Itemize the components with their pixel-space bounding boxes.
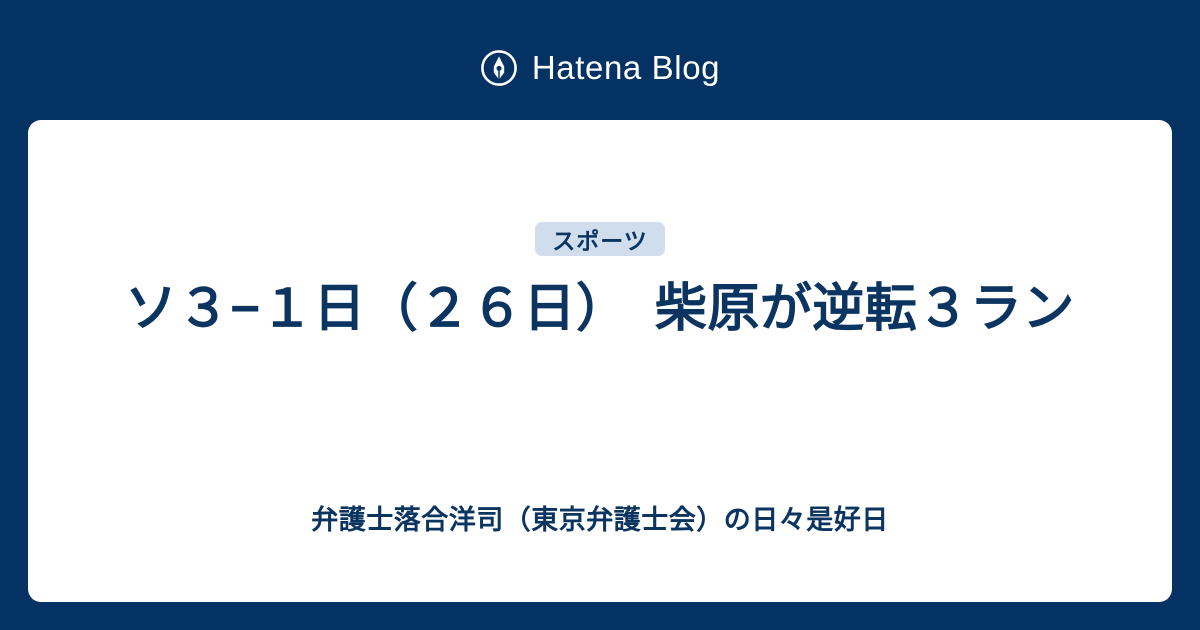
brand-name: Hatena Blog [532, 49, 720, 87]
hatena-blog-brand: Hatena Blog [0, 40, 1200, 96]
entry-card: スポーツ ソ３−１日（２６日） 柴原が逆転３ラン 弁護士落合洋司（東京弁護士会）… [28, 120, 1172, 602]
category-tag-row: スポーツ [28, 222, 1172, 256]
entry-title: ソ３−１日（２６日） 柴原が逆転３ラン [88, 270, 1112, 348]
hatena-pen-nib-icon [480, 49, 518, 87]
ogp-card-page: Hatena Blog スポーツ ソ３−１日（２６日） 柴原が逆転３ラン 弁護士… [0, 0, 1200, 630]
category-tag-sports[interactable]: スポーツ [535, 222, 665, 256]
blog-title: 弁護士落合洋司（東京弁護士会）の日々是好日 [88, 500, 1112, 540]
